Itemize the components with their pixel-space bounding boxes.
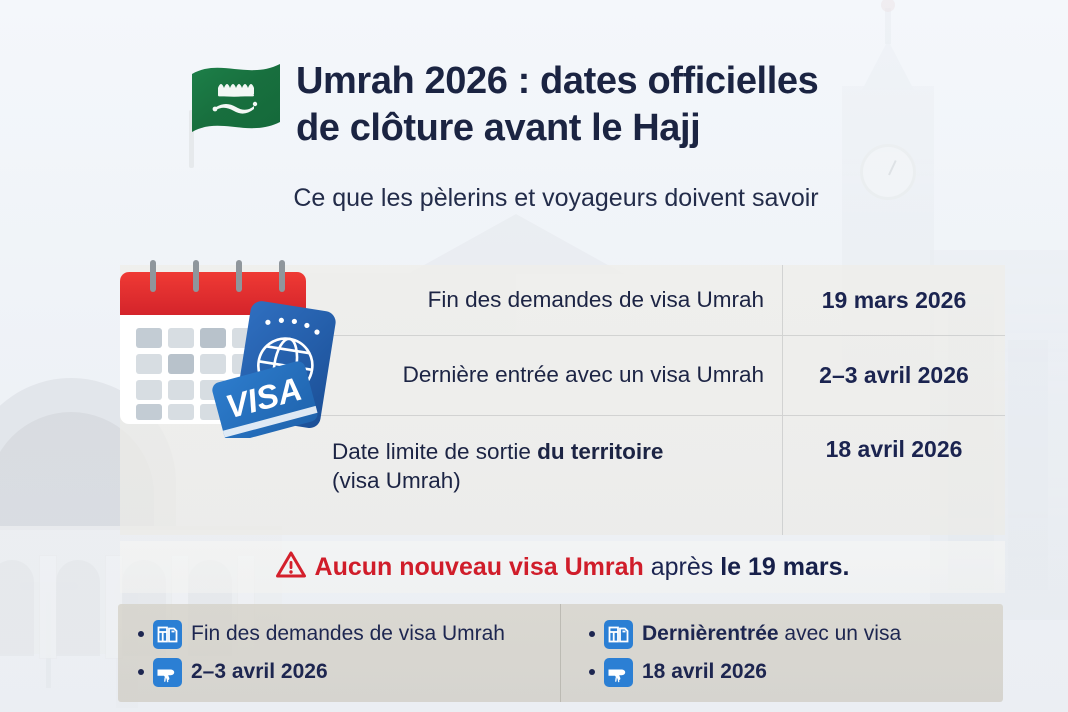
summary-column-left: Fin des demandes de visa Umrah 2–3 avril… xyxy=(118,604,560,702)
list-item-label: 18 avril 2026 xyxy=(642,660,767,684)
bullet-icon xyxy=(589,669,595,675)
page-subtitle: Ce que les pèlerins et voyageurs doivent… xyxy=(176,184,936,213)
row-date: 2–3 avril 2026 xyxy=(782,336,1005,415)
bullet-icon xyxy=(138,631,144,637)
warning-text: Aucun nouveau visa Umrah après le 19 mar… xyxy=(315,553,850,582)
document-badge-icon xyxy=(153,620,182,649)
list-item: Fin des demandes de visa Umrah xyxy=(138,615,560,653)
warning-text-navy: après xyxy=(644,553,720,581)
warning-text-red-bold: Umrah xyxy=(565,553,644,581)
row-label-text: Date limite de sortie xyxy=(332,439,537,464)
title-line-1: Umrah 2026 : dates officielles xyxy=(296,60,818,102)
list-item: 18 avril 2026 xyxy=(589,653,1002,691)
row-label-emphasis: du territoire xyxy=(537,439,663,464)
hand-point-badge-icon xyxy=(604,658,633,687)
warning-text-red: Aucun nouveau visa xyxy=(315,553,565,581)
list-item: 2–3 avril 2026 xyxy=(138,653,560,691)
header: Umrah 2026 : dates officielles de clôtur… xyxy=(0,0,1068,230)
warning-banner: Aucun nouveau visa Umrah après le 19 mar… xyxy=(120,541,1005,593)
list-item-label: 2–3 avril 2026 xyxy=(191,660,328,684)
infographic-poster: Umrah 2026 : dates officielles de clôtur… xyxy=(0,0,1068,712)
document-badge-icon xyxy=(604,620,633,649)
list-item: Dernièrentrée avec un visa xyxy=(589,615,1002,653)
warning-triangle-icon xyxy=(276,551,306,583)
list-item-label-bold: Dernièrentrée xyxy=(642,622,779,645)
page-title: Umrah 2026 : dates officielles de clôtur… xyxy=(296,58,956,152)
saudi-flag-icon xyxy=(176,52,290,168)
list-item-label: Dernièrentrée avec un visa xyxy=(642,622,901,646)
summary-panel: Fin des demandes de visa Umrah 2–3 avril… xyxy=(118,604,1003,702)
list-item-label-rest: avec un visa xyxy=(779,622,902,645)
row-date: 19 mars 2026 xyxy=(782,265,1005,335)
bullet-icon xyxy=(138,669,144,675)
hand-point-badge-icon xyxy=(153,658,182,687)
summary-column-right: Dernièrentrée avec un visa 18 avril 2026 xyxy=(560,604,1002,702)
title-line-2: de clôture avant le Hajj xyxy=(296,105,956,152)
warning-text-navy-bold: le 19 mars. xyxy=(720,553,849,581)
bullet-icon xyxy=(589,631,595,637)
row-label-line-2: (visa Umrah) xyxy=(332,467,663,496)
list-item-label: Fin des demandes de visa Umrah xyxy=(191,622,505,646)
row-date: 18 avril 2026 xyxy=(782,416,1005,535)
calendar-passport-artwork: VISA xyxy=(108,258,340,438)
